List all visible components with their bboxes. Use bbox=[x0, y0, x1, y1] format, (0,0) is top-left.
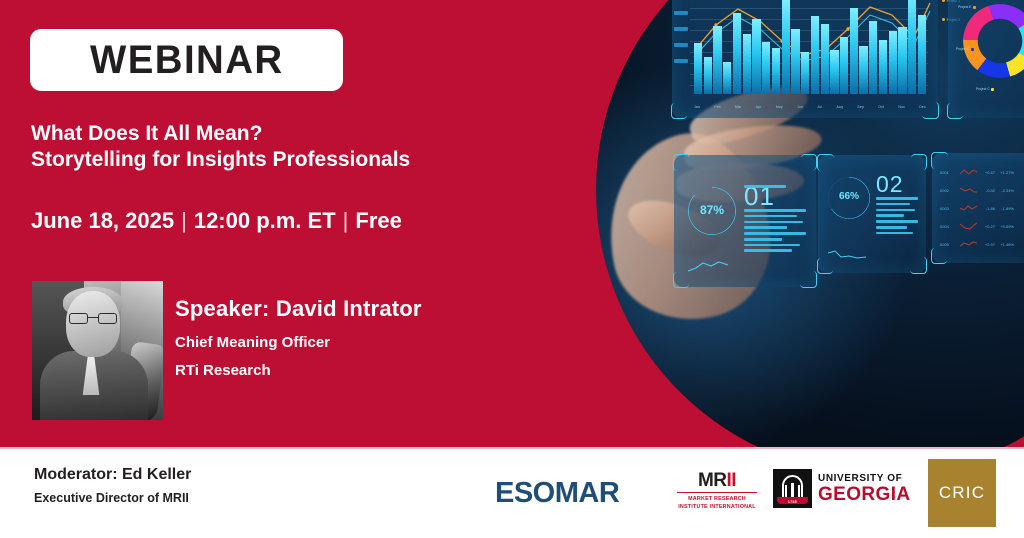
donut-chart bbox=[963, 4, 1024, 78]
meta-separator: | bbox=[336, 208, 356, 233]
kpi-02-sparkline bbox=[828, 248, 868, 261]
donut-label-3: Project D bbox=[956, 47, 974, 51]
axis-tick: Apr bbox=[756, 105, 762, 109]
kpi-02-text-lines bbox=[876, 197, 918, 234]
uga-seal-year: 1785 bbox=[773, 500, 812, 504]
table-row: 0001 +0.47 +1.27% bbox=[940, 168, 1024, 176]
hero-kpi-panel-02: 66% 02 bbox=[818, 155, 926, 273]
table-row: 0004 +0.27 +0.59% bbox=[940, 222, 1024, 230]
row-sparkline-icon bbox=[960, 222, 978, 230]
uga-arch-icon: 1785 bbox=[773, 469, 812, 508]
mrii-logo: MRII MARKET RESEARCH INSTITUTE INTERNATI… bbox=[677, 471, 757, 511]
axis-tick: Oct bbox=[878, 105, 884, 109]
event-price: Free bbox=[355, 208, 401, 233]
hero-image: Jan Feb Mar Apr May Jun Jul Aug Sep Oct … bbox=[596, 0, 1024, 447]
axis-tick: Sep bbox=[857, 105, 864, 109]
speaker-photo bbox=[32, 281, 163, 420]
mrii-wordmark: MRII bbox=[677, 471, 757, 490]
axis-tick: Feb bbox=[714, 105, 720, 109]
kpi-01-sparkline bbox=[688, 259, 732, 273]
mrii-subtitle: MARKET RESEARCH INSTITUTE INTERNATIONAL bbox=[677, 495, 757, 511]
uga-wordmark: UNIVERSITY OF GEORGIA bbox=[818, 474, 911, 504]
footer-bar: Moderator: Ed Keller Executive Director … bbox=[0, 449, 1024, 538]
speaker-role: Chief Meaning Officer bbox=[175, 334, 422, 351]
hero-bar-chart-panel: Jan Feb Mar Apr May Jun Jul Aug Sep Oct … bbox=[672, 0, 938, 118]
table-row: 0002 -0.32 -2.34% bbox=[940, 186, 1024, 194]
donut-label-4: Project C bbox=[976, 87, 994, 91]
axis-tick: Dec bbox=[919, 105, 926, 109]
speaker-name: Speaker: David Intrator bbox=[175, 296, 422, 322]
axis-tick: Jan bbox=[694, 105, 700, 109]
mrii-rule bbox=[677, 492, 757, 494]
moderator-name: Moderator: Ed Keller bbox=[34, 466, 191, 484]
speaker-details: Speaker: David Intrator Chief Meaning Of… bbox=[175, 296, 422, 379]
title-line-1: What Does It All Mean? bbox=[31, 121, 551, 147]
event-meta: June 18, 2025|12:00 p.m. ET|Free bbox=[31, 208, 402, 234]
moderator-details: Moderator: Ed Keller Executive Director … bbox=[34, 466, 191, 505]
meta-separator: | bbox=[174, 208, 194, 233]
webinar-badge: WEBINAR bbox=[30, 29, 343, 91]
webinar-banner: Jan Feb Mar Apr May Jun Jul Aug Sep Oct … bbox=[0, 0, 1024, 538]
axis-tick: Nov bbox=[898, 105, 905, 109]
bar-chart-month-labels: Jan Feb Mar Apr May Jun Jul Aug Sep Oct … bbox=[694, 105, 926, 109]
axis-tick: May bbox=[776, 105, 783, 109]
donut-label-2: Project E bbox=[958, 5, 976, 9]
speaker-organization: RTi Research bbox=[175, 362, 422, 379]
event-date: June 18, 2025 bbox=[31, 208, 174, 233]
event-time: 12:00 p.m. ET bbox=[194, 208, 336, 233]
bar-chart-bars bbox=[694, 0, 926, 94]
partner-logos: ESOMAR MRII MARKET RESEARCH INSTITUTE IN… bbox=[485, 449, 1024, 538]
axis-tick: Jun bbox=[797, 105, 803, 109]
cric-wordmark: CRIC bbox=[939, 483, 985, 503]
table-row: 0005 +2.97 +1.46% bbox=[940, 240, 1024, 248]
axis-tick: Mar bbox=[735, 105, 741, 109]
kpi-02-value: 66% bbox=[828, 191, 870, 202]
axis-tick: Jul bbox=[817, 105, 822, 109]
cric-logo: CRIC bbox=[928, 459, 996, 527]
hero-circle-mask: Jan Feb Mar Apr May Jun Jul Aug Sep Oct … bbox=[596, 0, 1024, 447]
hero-kpi-panel-01: 87% 01 bbox=[674, 155, 816, 287]
row-sparkline-icon bbox=[960, 168, 978, 176]
kpi-01-value: 87% bbox=[688, 203, 736, 217]
row-sparkline-icon bbox=[960, 204, 978, 212]
kpi-01-text-lines bbox=[744, 209, 806, 252]
hero-donut-chart-panel: Project F Project E Project D Project C … bbox=[948, 0, 1024, 118]
kpi-02-index: 02 bbox=[876, 171, 904, 198]
table-row: 0003 -1.86 -1.89% bbox=[940, 204, 1024, 212]
hero-data-table-panel: 0001 +0.47 +1.27% 0002 -0.32 -2.34% 0003 bbox=[932, 153, 1024, 263]
row-sparkline-icon bbox=[960, 186, 978, 194]
esomar-logo: ESOMAR bbox=[495, 477, 619, 510]
glasses-icon bbox=[69, 313, 117, 324]
row-sparkline-icon bbox=[960, 240, 978, 248]
uga-logo: 1785 UNIVERSITY OF GEORGIA bbox=[773, 469, 911, 508]
axis-tick: Aug bbox=[837, 105, 844, 109]
webinar-badge-label: WEBINAR bbox=[90, 38, 284, 83]
title-line-2: Storytelling for Insights Professionals bbox=[31, 147, 551, 173]
bar-chart-axis-ticks bbox=[674, 0, 688, 63]
page-title: What Does It All Mean? Storytelling for … bbox=[31, 121, 551, 173]
moderator-role: Executive Director of MRII bbox=[34, 491, 191, 505]
